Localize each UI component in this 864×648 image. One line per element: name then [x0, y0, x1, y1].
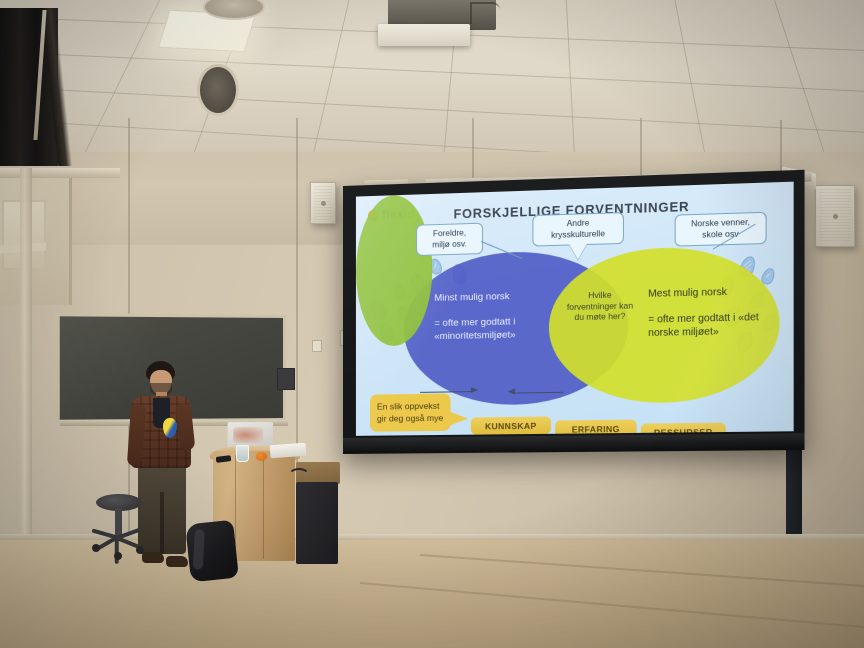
water-glass[interactable] [236, 445, 249, 462]
callout-andre-line2: krysskulturelle [540, 228, 617, 241]
backpack [185, 520, 239, 583]
wall-control-panel[interactable] [277, 368, 295, 390]
wall-cabinet [0, 178, 72, 305]
callout-foreldre: Foreldre, miljø osv. [416, 223, 483, 257]
stool-wheel [114, 552, 122, 560]
stool-wheel [92, 544, 100, 552]
backpack-strap [193, 529, 205, 569]
dark-curtain [0, 8, 58, 166]
projection-screen: flexid FORSKJELLIGE FORVENTNINGER [343, 170, 805, 454]
wall-round-vent [197, 64, 239, 116]
presenter-leg-gap [160, 492, 164, 554]
bubble-line2: gir deg også mye [377, 412, 443, 425]
callout-foreldre-line2: miljø osv. [423, 239, 476, 251]
stool-wheel [136, 546, 144, 554]
right-wall-speaker [815, 185, 855, 247]
blue-ellipse-text: Minst mulig norsk = ofte mer godtatt i «… [434, 290, 552, 344]
presenter-shoe-left [142, 552, 164, 563]
green-heading: Mest mulig norsk [648, 287, 727, 300]
blue-heading: Minst mulig norsk [434, 291, 509, 304]
wall-ledge [0, 168, 120, 178]
wall-post [20, 168, 32, 578]
projector-cables [470, 2, 500, 24]
arrow-head-right [471, 387, 478, 393]
overlap-text: Hvilke forventninger kan du møte her? [564, 290, 635, 324]
floor [0, 540, 864, 648]
screen-surface: flexid FORSKJELLIGE FORVENTNINGER [356, 182, 794, 436]
white-box[interactable] [270, 443, 307, 458]
bubble-tail [449, 411, 467, 425]
callout-andre-krysskulturelle: Andre krysskulturelle [532, 212, 624, 247]
black-equipment-cabinet [296, 482, 338, 564]
speech-bubble-oppvekst: En slik oppvekst gir deg også mye [370, 393, 451, 431]
callout-norske-line2: skole osv [682, 228, 759, 241]
green-ellipse-text: Mest mulig norsk = ofte mer godtatt i «d… [648, 284, 776, 340]
left-wall-speaker [310, 182, 336, 224]
speaker-driver-icon [321, 201, 326, 206]
callout-norske-venner: Norske venner, skole osv [675, 212, 767, 247]
arrow-head-left [508, 388, 515, 394]
wall-outlet-plate[interactable] [312, 340, 322, 352]
blue-detail: = ofte mer godtatt i «minoritetsmiljøet» [434, 315, 552, 343]
orange-object[interactable] [256, 452, 267, 461]
pill-erfaring: ERFARING [555, 420, 636, 436]
green-detail: = ofte mer godtatt i «det norske miljøet… [648, 311, 776, 341]
bubble-line1: En slik oppvekst [377, 400, 443, 413]
pill-kunnskap: KUNNSKAP [471, 416, 551, 434]
presenter-shoe-right [166, 556, 188, 567]
lecture-room-photo: flexid FORSKJELLIGE FORVENTNINGER [0, 0, 864, 648]
laptop-screen-content [233, 427, 263, 443]
slide-canvas: flexid FORSKJELLIGE FORVENTNINGER [356, 182, 794, 436]
projector-lens [378, 24, 470, 46]
callout-andre-tail [569, 243, 588, 260]
wall-seam [640, 118, 642, 180]
speaker-driver-icon [833, 214, 838, 219]
